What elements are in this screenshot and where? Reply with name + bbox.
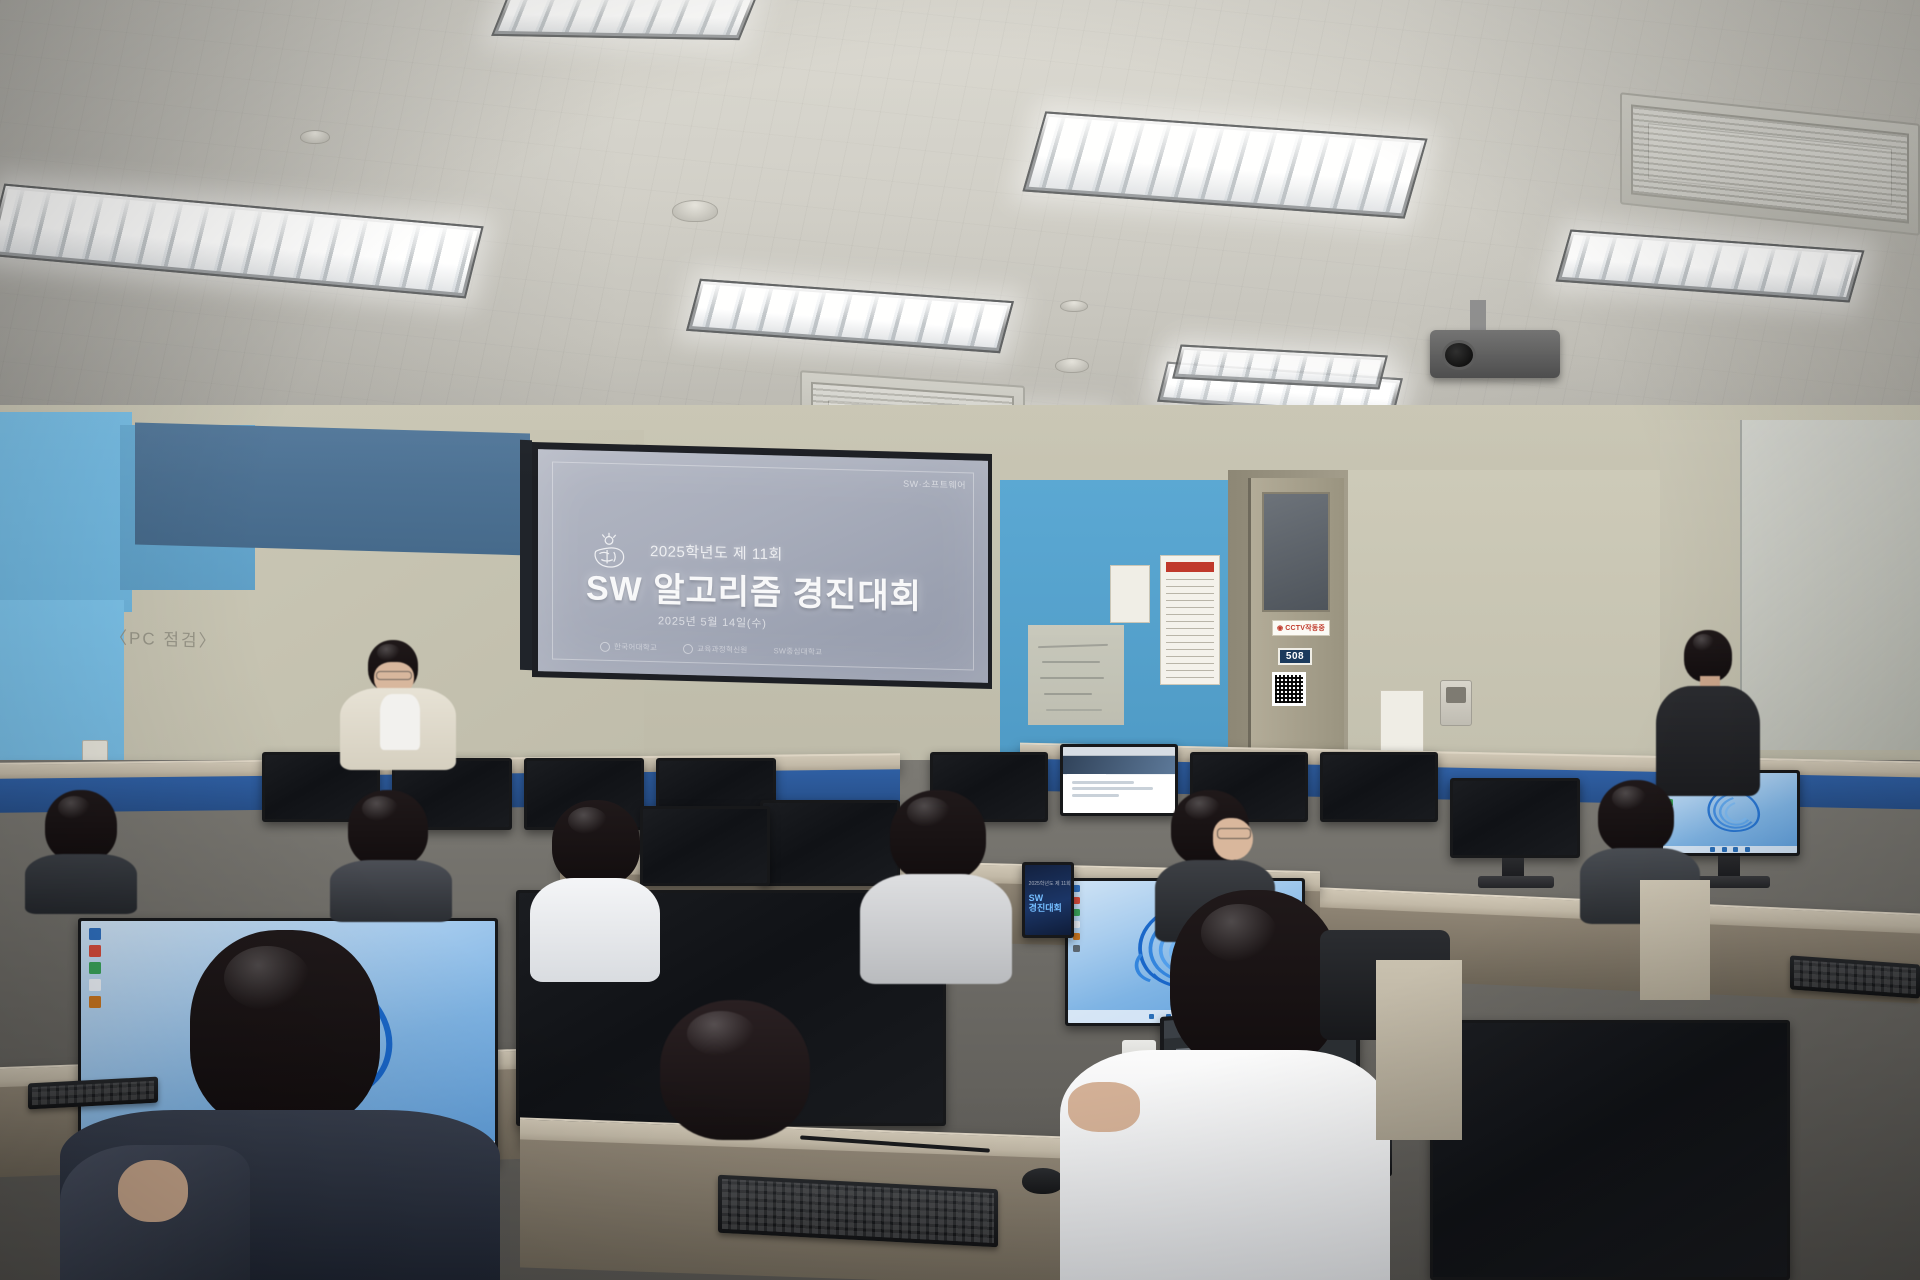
desk-divider-panel-2 <box>1640 880 1710 1000</box>
student-foreground-left <box>60 930 500 1280</box>
ceiling-speaker-1 <box>672 200 718 222</box>
pc-inspection-sign: 〈PC 점검〉 <box>110 623 218 652</box>
monitor-screen-off <box>1453 781 1577 855</box>
door-notice-poster <box>1160 555 1220 685</box>
lamp-sheen <box>494 0 756 38</box>
monitor-far-8 <box>1320 752 1438 822</box>
staff-standing <box>1650 630 1760 800</box>
student-head <box>348 790 428 868</box>
student-head <box>890 790 986 882</box>
ac-center-panel <box>1648 123 1892 205</box>
sponsor-logo-2: 교육과정혁신원 <box>683 643 747 656</box>
student-head <box>1170 890 1340 1070</box>
hair-highlight <box>687 1011 755 1056</box>
student-3 <box>530 800 660 980</box>
monitor-bezel <box>1453 781 1577 855</box>
room-number-plate: 508 <box>1278 648 1312 665</box>
classroom-photo: 〈PC 점검〉 SW·소프트웨어 2025학년도 제 11회 SW 알고리즘 경… <box>0 0 1920 1280</box>
student-torso <box>330 860 452 922</box>
wall-whiteboard <box>1028 625 1124 725</box>
slide-brand-mark: SW·소프트웨어 <box>903 477 966 492</box>
sponsor-logo-1: 한국어대학교 <box>600 641 657 653</box>
sponsor-logo-1-label: 한국어대학교 <box>614 641 657 653</box>
student-1 <box>25 790 135 910</box>
student-head <box>660 1000 810 1140</box>
monitor-right-off-a <box>1450 778 1580 858</box>
monitor-screen-off <box>1433 1023 1787 1277</box>
ceiling-speaker-3 <box>1055 358 1089 373</box>
desk-divider-panel <box>1376 960 1462 1140</box>
hair-highlight <box>1201 904 1278 962</box>
student-torso <box>25 854 137 914</box>
browser-chrome <box>1063 747 1175 756</box>
ceiling-projector <box>1430 330 1560 378</box>
student-hand-on-keyboard <box>1068 1082 1140 1132</box>
student-torso <box>530 878 660 982</box>
whiteboard-mark <box>1038 644 1108 648</box>
logo-mark-icon <box>600 641 610 651</box>
right-glass-partition <box>1740 420 1920 750</box>
sponsor-logo-2-label: 교육과정혁신원 <box>697 643 747 655</box>
cctv-sign: ◉ CCTV작동중 <box>1272 620 1330 636</box>
whiteboard-mark <box>1046 709 1102 711</box>
monitor-screen-off <box>1323 755 1435 819</box>
taskbar-icon[interactable] <box>1722 847 1727 852</box>
cctv-camera-icon: ◉ <box>1277 624 1283 632</box>
hair-highlight <box>1693 634 1715 651</box>
hair-highlight <box>224 946 310 1010</box>
wall-intercom[interactable] <box>1440 680 1472 726</box>
student-2 <box>330 790 450 920</box>
smoke-detector <box>1060 300 1088 312</box>
glasses-icon <box>1217 828 1251 839</box>
student-torso <box>860 874 1012 984</box>
whiteboard-mark <box>1044 693 1092 695</box>
slide-date: 2025년 5월 14일(수) <box>658 612 767 631</box>
door-window <box>1262 492 1330 612</box>
text-line <box>1072 794 1119 797</box>
hair-highlight <box>362 796 398 821</box>
hair-highlight <box>1612 786 1646 810</box>
whiteboard-mark <box>1042 661 1100 663</box>
monitor-bezel <box>643 809 767 883</box>
monitor-bezel <box>1433 1023 1787 1277</box>
slide-kicker: 2025학년도 제 11회 <box>650 540 783 564</box>
student-hand <box>118 1160 188 1222</box>
projection-screen: SW·소프트웨어 2025학년도 제 11회 SW 알고리즘 경진대회 2025… <box>538 449 988 683</box>
slide-title: SW 알고리즘 경진대회 <box>586 560 922 618</box>
sponsor-logo-3-label: SW중심대학교 <box>774 645 823 657</box>
mouse-front[interactable] <box>1022 1168 1064 1194</box>
glasses-icon <box>376 671 412 680</box>
sponsor-logo-3: SW중심대학교 <box>774 645 823 657</box>
cctv-sign-label: CCTV작동중 <box>1285 623 1325 633</box>
student-head <box>190 930 380 1130</box>
hair-highlight <box>568 807 608 835</box>
hair-highlight <box>1185 796 1220 820</box>
student-head <box>552 800 640 886</box>
projector-lens <box>1442 340 1476 370</box>
staff-head <box>1684 630 1732 682</box>
student-head <box>1598 780 1674 854</box>
screen-frame-edge <box>520 440 532 670</box>
projector-mount <box>1470 300 1486 334</box>
monitor-bezel <box>1323 755 1435 819</box>
screen-valance <box>135 422 530 555</box>
hair-highlight <box>377 644 400 661</box>
hair-highlight <box>58 796 90 819</box>
student-head <box>45 790 117 862</box>
start-icon[interactable] <box>1710 847 1715 852</box>
student-face <box>1213 818 1253 860</box>
ceiling-speaker-2 <box>300 130 330 144</box>
monitor-near-right-off <box>1430 1020 1790 1280</box>
qr-code-icon <box>1272 672 1306 706</box>
text-line <box>1072 787 1153 790</box>
ceiling-light-1 <box>491 0 759 40</box>
taskbar-icon[interactable] <box>1733 847 1738 852</box>
monitor-screen-off <box>643 809 767 883</box>
presenter-inner-shirt <box>380 694 420 750</box>
text-line <box>1072 781 1134 784</box>
door-notice-small <box>1110 565 1150 623</box>
taskbar-icon[interactable] <box>1745 847 1750 852</box>
browser-hero-image <box>1063 756 1175 774</box>
monitor-base <box>1478 876 1554 888</box>
presenter <box>340 640 470 770</box>
hair-highlight <box>907 797 950 826</box>
logo-mark-icon <box>683 643 693 653</box>
left-wall-blue-upper <box>0 412 132 612</box>
poster-subtitle: 2025학년도 제 11회 <box>1029 880 1071 887</box>
student-4 <box>860 790 1010 980</box>
whiteboard-mark <box>1040 677 1104 679</box>
